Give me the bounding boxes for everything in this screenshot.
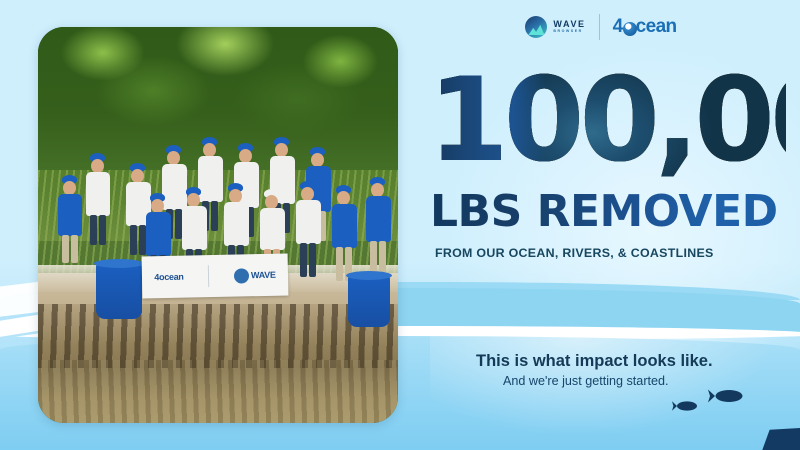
banner-wave-logo: WAVE (234, 267, 276, 283)
banner-4ocean-label: 4ocean (154, 272, 183, 283)
wave-wordmark: WAVE BROWSER (553, 20, 585, 34)
logo-divider (599, 14, 600, 40)
logo-lockup: WAVE BROWSER 4 cean (402, 14, 800, 40)
fish-icon (672, 400, 698, 412)
4ocean-logo: 4 cean (613, 16, 677, 38)
content-panel: WAVE BROWSER 4 cean 100,000 LBS REMOVED … (402, 0, 800, 450)
banner-divider (208, 265, 209, 287)
tagline-primary: This is what impact looks like. (476, 352, 713, 371)
photo-debris-line-2 (38, 360, 398, 423)
headline-line3: FROM OUR OCEAN, RIVERS, & COASTLINES (435, 246, 714, 260)
wave-mark-icon (525, 16, 547, 38)
poster-canvas: 4ocean WAVE WAVE BROWSER 4 cean (0, 0, 800, 450)
wave-label-primary: WAVE (553, 20, 585, 29)
4ocean-label-post: cean (636, 16, 677, 38)
cleanup-banner: 4ocean WAVE (142, 253, 289, 298)
headline-line2: LBS REMOVED (430, 190, 778, 234)
collection-bucket (96, 263, 142, 319)
photo-debris-line (38, 304, 398, 367)
tagline-secondary: And we're just getting started. (503, 374, 669, 388)
globe-icon (623, 22, 637, 36)
headline-number-wrap: 100,000 (428, 62, 786, 180)
wave-label-secondary: BROWSER (553, 30, 585, 34)
4ocean-label-pre: 4 (613, 16, 623, 38)
banner-wave-mark (234, 268, 249, 283)
collection-bucket (348, 275, 390, 327)
fish-icon (708, 388, 744, 404)
wave-browser-logo: WAVE BROWSER (525, 16, 585, 38)
headline-number: 100,000 (428, 62, 786, 180)
cleanup-crew-photo: 4ocean WAVE (38, 27, 398, 423)
banner-wave-label: WAVE (251, 270, 276, 281)
